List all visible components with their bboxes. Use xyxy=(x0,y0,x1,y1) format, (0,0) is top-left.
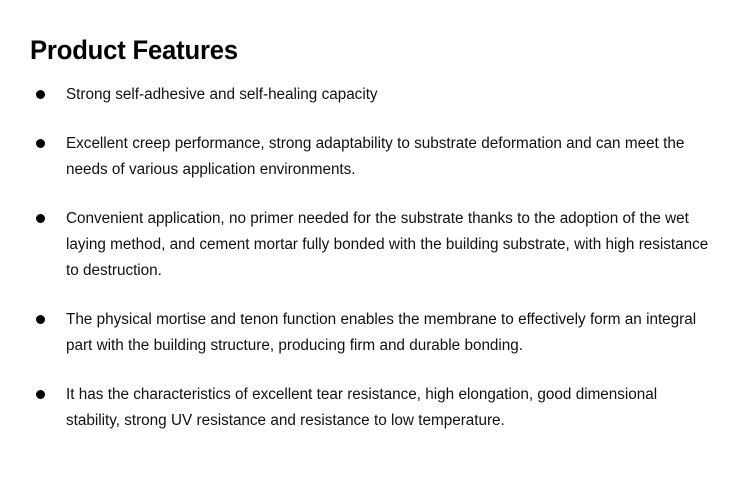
feature-text: It has the characteristics of excellent … xyxy=(66,382,715,434)
list-item: The physical mortise and tenon function … xyxy=(0,307,750,359)
list-item: Excellent creep performance, strong adap… xyxy=(0,131,750,183)
feature-text: Excellent creep performance, strong adap… xyxy=(66,131,715,183)
product-features-page: Product Features Strong self-adhesive an… xyxy=(0,0,750,497)
bullet-icon xyxy=(36,139,45,148)
bullet-icon xyxy=(36,214,45,223)
feature-text: The physical mortise and tenon function … xyxy=(66,307,715,359)
page-title: Product Features xyxy=(30,34,238,66)
feature-text: Strong self-adhesive and self-healing ca… xyxy=(66,82,715,108)
bullet-icon xyxy=(36,315,45,324)
list-item: It has the characteristics of excellent … xyxy=(0,382,750,434)
bullet-icon xyxy=(36,390,45,399)
feature-text: Convenient application, no primer needed… xyxy=(66,206,715,284)
list-item: Strong self-adhesive and self-healing ca… xyxy=(0,82,750,108)
product-features-list: Strong self-adhesive and self-healing ca… xyxy=(0,82,750,434)
bullet-icon xyxy=(36,90,45,99)
list-item: Convenient application, no primer needed… xyxy=(0,206,750,284)
